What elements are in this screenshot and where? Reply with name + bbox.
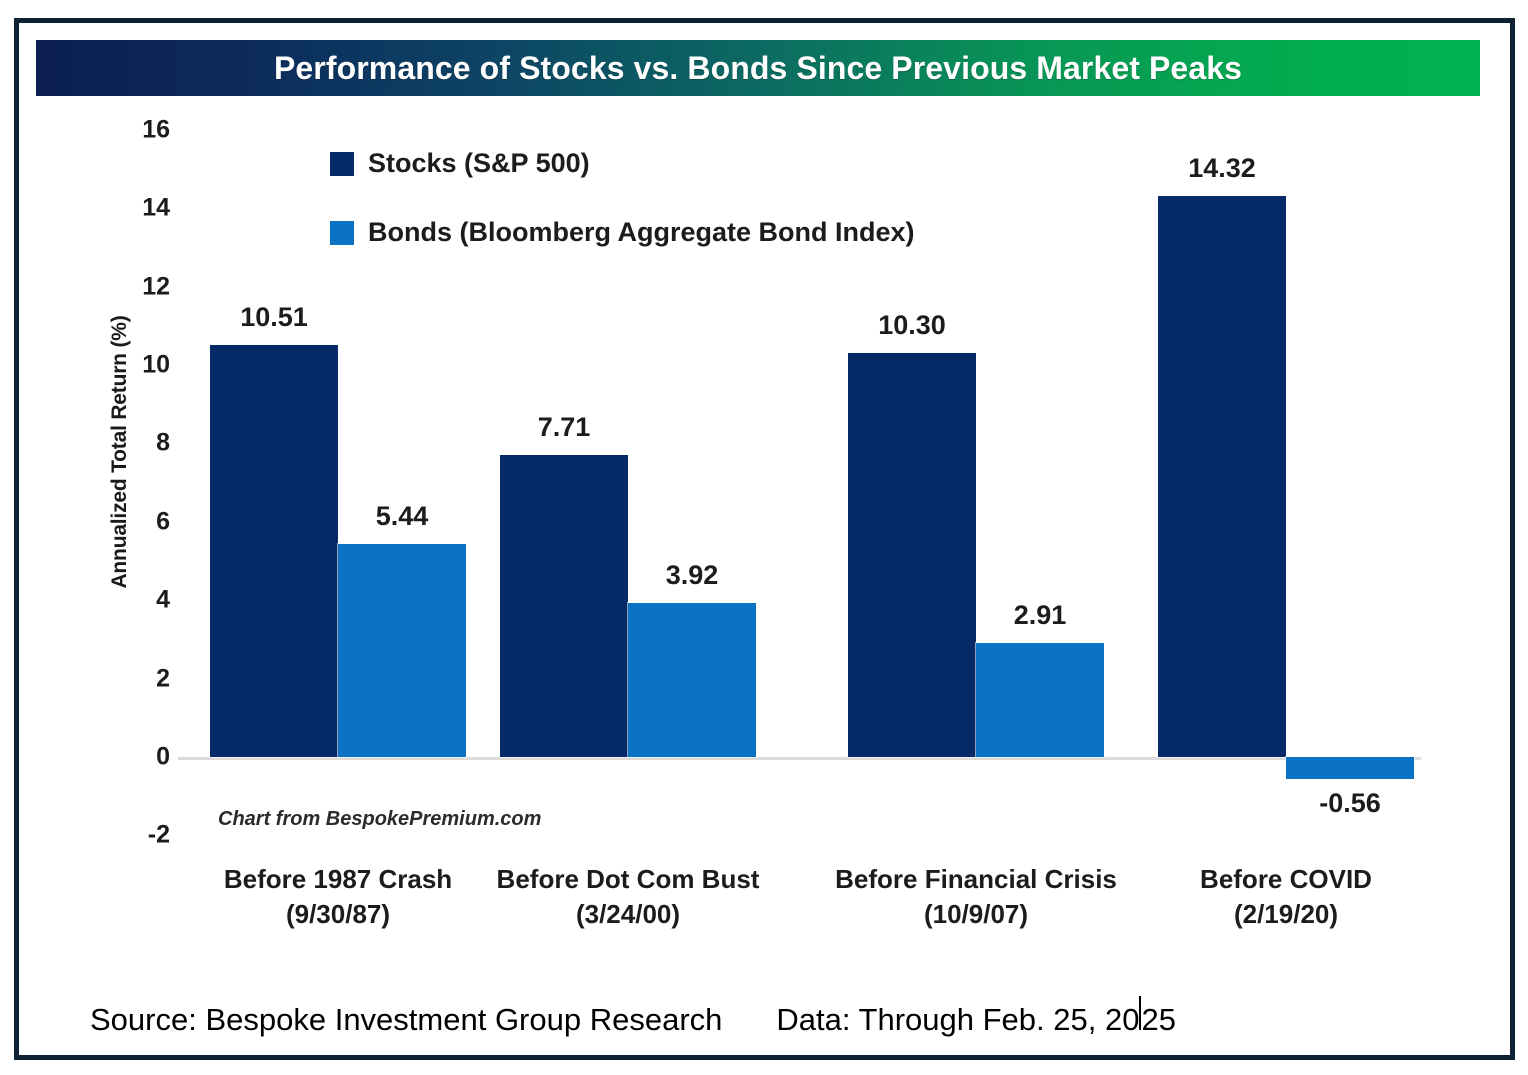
chart-page: Performance of Stocks vs. Bonds Since Pr…	[0, 0, 1528, 1075]
legend-swatch-bonds-icon	[330, 221, 354, 245]
legend-item-bonds: Bonds (Bloomberg Aggregate Bond Index)	[330, 217, 915, 248]
y-axis-tick: 2	[100, 664, 170, 693]
zero-baseline	[178, 757, 1421, 760]
y-axis-tick: 6	[100, 507, 170, 536]
y-axis-tick: 10	[100, 351, 170, 380]
y-axis-tick: -2	[100, 821, 170, 850]
legend: Stocks (S&P 500) Bonds (Bloomberg Aggreg…	[330, 148, 915, 286]
page-title: Performance of Stocks vs. Bonds Since Pr…	[274, 50, 1242, 87]
title-banner: Performance of Stocks vs. Bonds Since Pr…	[36, 40, 1480, 96]
footer: Source: Bespoke Investment Group Researc…	[90, 996, 1176, 1038]
footer-data-note-pre: Data: Through Feb. 25, 20	[776, 1002, 1139, 1038]
footer-data-note-post: 25	[1141, 1002, 1175, 1038]
y-axis-tick: 8	[100, 429, 170, 458]
y-axis-tick: 14	[100, 194, 170, 223]
legend-item-stocks: Stocks (S&P 500)	[330, 148, 915, 179]
y-axis-tick: 12	[100, 272, 170, 301]
legend-swatch-stocks-icon	[330, 152, 354, 176]
y-axis-ticks: 1614121086420-2	[98, 0, 170, 1075]
legend-label-stocks: Stocks (S&P 500)	[368, 148, 590, 179]
legend-label-bonds: Bonds (Bloomberg Aggregate Bond Index)	[368, 217, 915, 248]
y-axis-tick: 0	[100, 743, 170, 772]
y-axis-tick: 16	[100, 115, 170, 144]
y-axis-tick: 4	[100, 586, 170, 615]
chart-attribution: Chart from BespokePremium.com	[218, 808, 541, 831]
footer-source: Source: Bespoke Investment Group Researc…	[90, 1002, 722, 1038]
